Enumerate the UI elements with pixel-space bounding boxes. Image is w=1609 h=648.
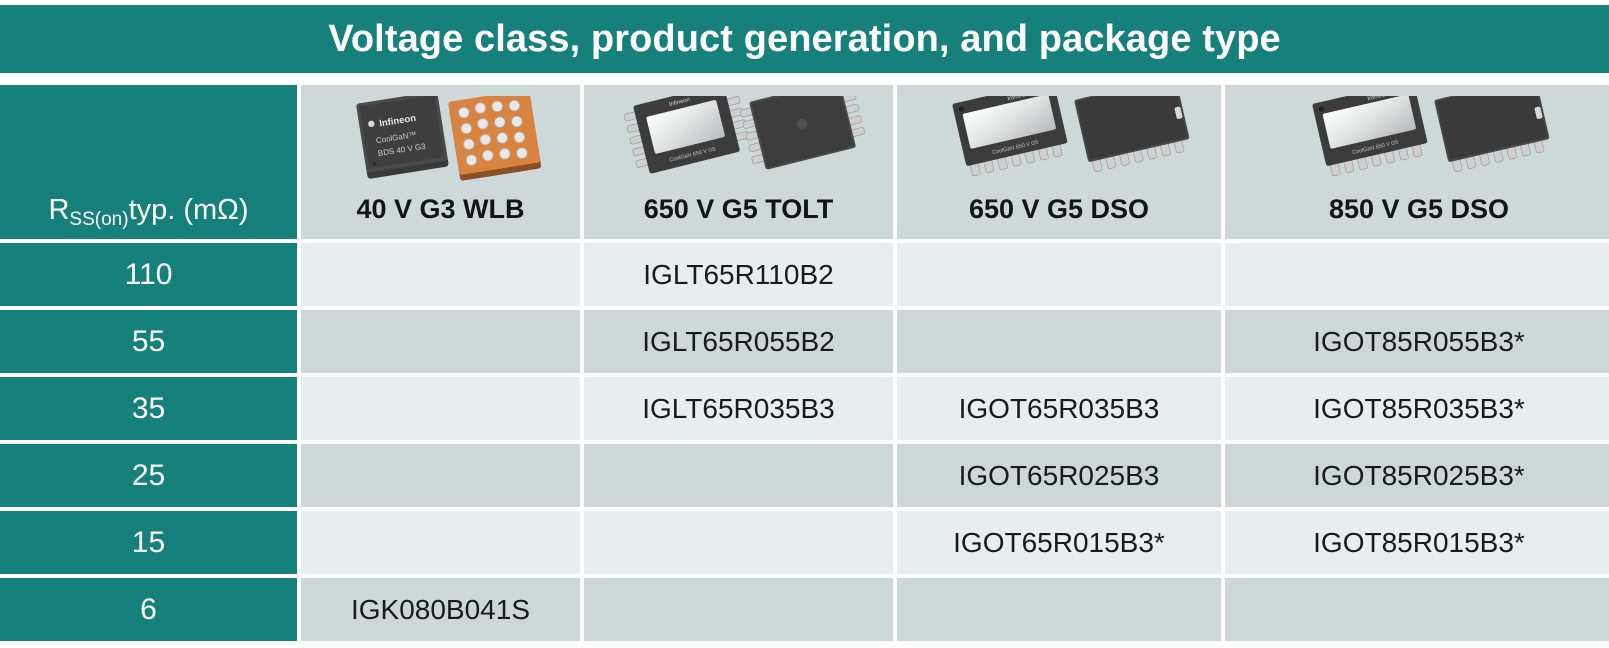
product-cell[interactable]: IGOT65R015B3*: [897, 511, 1221, 574]
table-row: 25 IGOT65R025B3 IGOT85R025B3*: [0, 444, 1609, 507]
page-title-bar: Voltage class, product generation, and p…: [0, 5, 1609, 73]
product-cell[interactable]: IGOT85R025B3*: [1225, 444, 1609, 507]
column-header-label: 650 V G5 DSO: [969, 194, 1149, 225]
product-cell[interactable]: [584, 578, 893, 641]
product-cell[interactable]: [897, 243, 1221, 306]
product-matrix-page: Voltage class, product generation, and p…: [0, 0, 1609, 648]
rds-on-header-label: RSS(on) typ. (mΩ): [48, 194, 248, 227]
rds-on-value: 25: [0, 444, 297, 507]
product-cell[interactable]: IGOT65R035B3: [897, 377, 1221, 440]
product-cell[interactable]: [301, 377, 580, 440]
product-cell[interactable]: IGK080B041S: [301, 578, 580, 641]
product-cell[interactable]: IGLT65R110B2: [584, 243, 893, 306]
product-cell[interactable]: [584, 511, 893, 574]
column-header-label: 40 V G3 WLB: [356, 194, 524, 225]
table-row: 55 IGLT65R055B2 IGOT85R055B3*: [0, 310, 1609, 373]
tolt-package-icon: Infineon CoolGaN 650 V G5: [584, 91, 893, 194]
product-cell[interactable]: [301, 243, 580, 306]
wlb-package-icon: Infineon CoolGaN™ BDS 40 V G3: [301, 91, 580, 194]
dso-package-icon: Infineon CoolGaN 650 V G5: [897, 91, 1221, 194]
table-row: 35 IGLT65R035B3 IGOT65R035B3 IGOT85R035B…: [0, 377, 1609, 440]
product-cell[interactable]: [301, 310, 580, 373]
product-cell[interactable]: IGLT65R055B2: [584, 310, 893, 373]
column-header-label: 850 V G5 DSO: [1329, 194, 1509, 225]
column-header-40v-g3-wlb[interactable]: Infineon CoolGaN™ BDS 40 V G3: [301, 85, 580, 239]
product-cell[interactable]: [301, 511, 580, 574]
product-cell[interactable]: IGOT85R015B3*: [1225, 511, 1609, 574]
column-header-650v-g5-dso[interactable]: Infineon CoolGaN 650 V G5: [897, 85, 1221, 239]
rds-on-value: 6: [0, 578, 297, 641]
product-matrix-table: RSS(on) typ. (mΩ) Infineon CoolGaN™: [0, 85, 1609, 645]
dso-package-icon: Infineon CoolGaN 850 V G5: [1225, 91, 1609, 194]
rds-on-subscript: SS(on): [69, 209, 128, 231]
table-row: 15 IGOT65R015B3* IGOT85R015B3*: [0, 511, 1609, 574]
column-header-650v-g5-tolt[interactable]: Infineon CoolGaN 650 V G5: [584, 85, 893, 239]
rds-on-suffix: typ. (mΩ): [129, 194, 249, 227]
product-cell[interactable]: [897, 578, 1221, 641]
product-cell[interactable]: [301, 444, 580, 507]
column-header-label: 650 V G5 TOLT: [644, 194, 834, 225]
rds-on-value: 110: [0, 243, 297, 306]
rds-on-value: 35: [0, 377, 297, 440]
page-title: Voltage class, product generation, and p…: [328, 18, 1281, 61]
product-cell[interactable]: IGOT85R035B3*: [1225, 377, 1609, 440]
rds-on-header-cell: RSS(on) typ. (mΩ): [0, 85, 297, 239]
column-header-850v-g5-dso[interactable]: Infineon CoolGaN 850 V G5: [1225, 85, 1609, 239]
product-cell[interactable]: IGOT65R025B3: [897, 444, 1221, 507]
rds-on-value: 15: [0, 511, 297, 574]
product-cell[interactable]: IGOT85R055B3*: [1225, 310, 1609, 373]
table-header-row: RSS(on) typ. (mΩ) Infineon CoolGaN™: [0, 85, 1609, 239]
product-cell[interactable]: [584, 444, 893, 507]
table-row: 6 IGK080B041S: [0, 578, 1609, 641]
table-row: 110 IGLT65R110B2: [0, 243, 1609, 306]
product-cell[interactable]: [897, 310, 1221, 373]
rds-on-prefix: R: [48, 194, 69, 227]
rds-on-value: 55: [0, 310, 297, 373]
product-cell[interactable]: [1225, 578, 1609, 641]
product-cell[interactable]: IGLT65R035B3: [584, 377, 893, 440]
product-cell[interactable]: [1225, 243, 1609, 306]
